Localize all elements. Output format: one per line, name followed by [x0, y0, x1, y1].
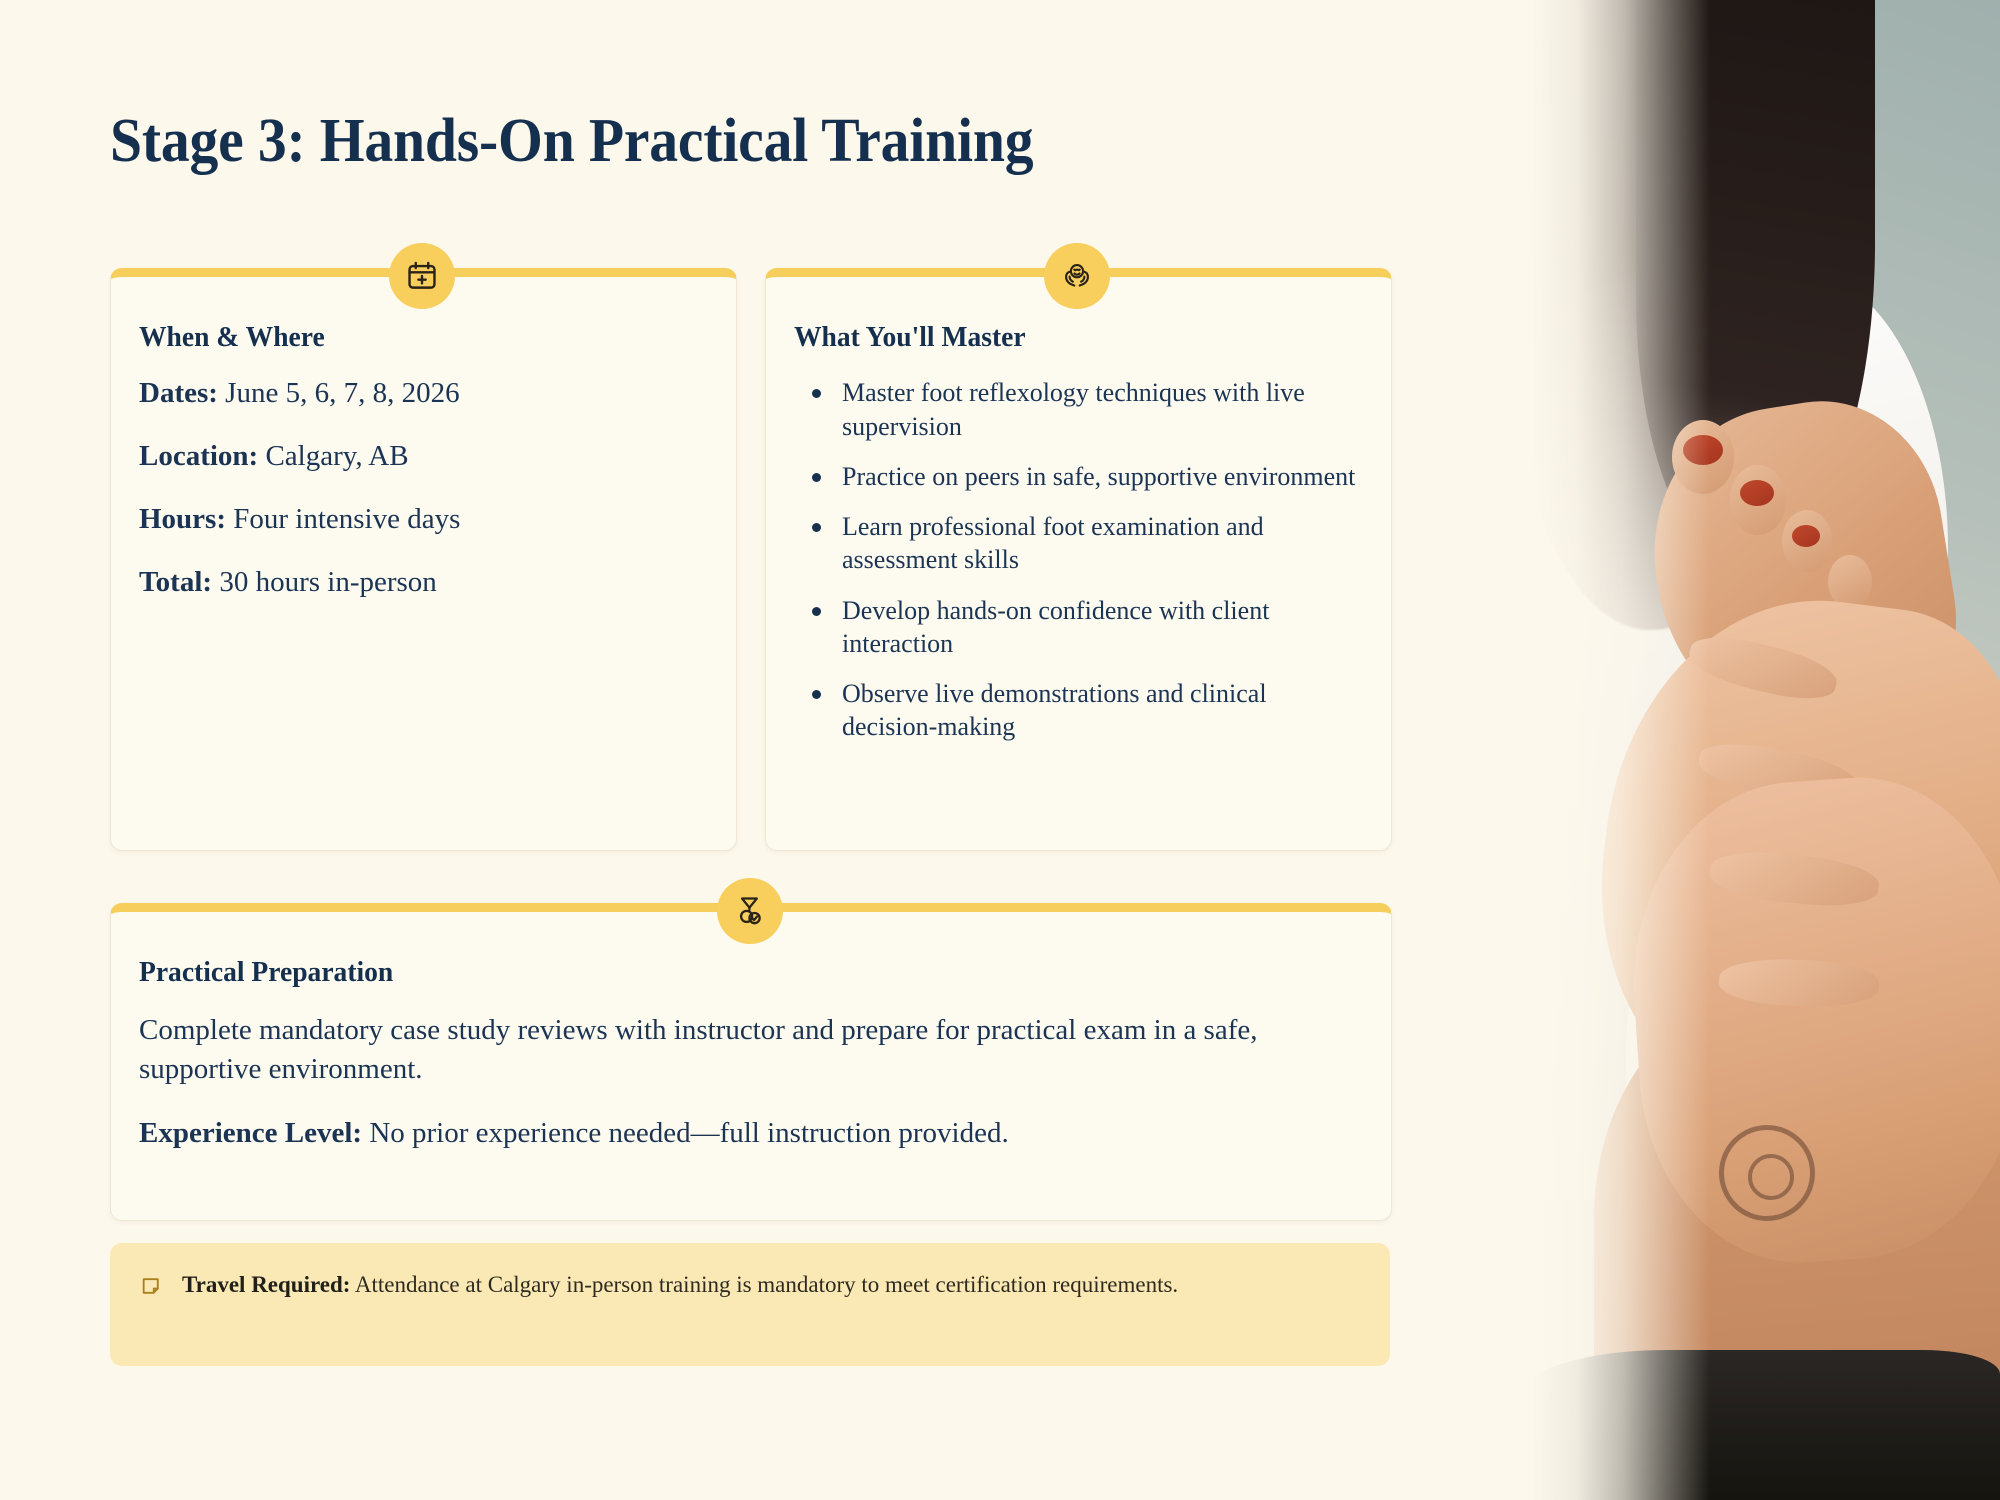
row-hours: Hours: Four intensive days — [139, 502, 708, 537]
preparation-paragraph: Complete mandatory case study reviews wi… — [139, 1011, 1363, 1089]
medal-check-icon — [717, 878, 783, 944]
notice-body: Attendance at Calgary in-person training… — [350, 1272, 1178, 1297]
card-practical-preparation-heading: Practical Preparation — [139, 956, 1302, 989]
row-total: Total: 30 hours in-person — [139, 565, 708, 600]
card-what-you-master-body: What You'll Master Master foot reflexolo… — [766, 277, 1391, 770]
row-total-label: Total: — [139, 566, 212, 598]
card-practical-preparation: Practical Preparation Complete mandatory… — [110, 903, 1392, 1221]
sticky-note-icon — [140, 1275, 162, 1302]
card-practical-preparation-body: Practical Preparation Complete mandatory… — [111, 912, 1391, 1179]
row-location: Location: Calgary, AB — [139, 439, 708, 474]
calendar-plus-icon — [389, 243, 455, 309]
card-what-you-master: What You'll Master Master foot reflexolo… — [765, 268, 1392, 851]
card-what-you-master-heading: What You'll Master — [794, 321, 1335, 354]
travel-required-notice: Travel Required: Attendance at Calgary i… — [110, 1243, 1390, 1366]
row-total-value: 30 hours in-person — [212, 566, 437, 598]
card-when-where: When & Where Dates: June 5, 6, 7, 8, 202… — [110, 268, 737, 851]
notice-text: Travel Required: Attendance at Calgary i… — [182, 1269, 1178, 1302]
photo-left-fade — [1480, 0, 1710, 1500]
list-item: Develop hands-on confidence with client … — [798, 594, 1363, 661]
row-dates-value: June 5, 6, 7, 8, 2026 — [218, 377, 460, 409]
page-title: Stage 3: Hands-On Practical Training — [110, 110, 1033, 172]
list-item: Learn professional foot examination and … — [798, 510, 1363, 577]
row-dates: Dates: June 5, 6, 7, 8, 2026 — [139, 376, 708, 411]
list-item: Practice on peers in safe, supportive en… — [798, 460, 1363, 493]
row-hours-value: Four intensive days — [226, 503, 460, 535]
experience-level-row: Experience Level: No prior experience ne… — [139, 1114, 1363, 1153]
reflexology-photo — [1480, 0, 2000, 1500]
master-bullet-list: Master foot reflexology techniques with … — [794, 376, 1363, 743]
row-location-label: Location: — [139, 440, 258, 472]
row-location-value: Calgary, AB — [258, 440, 408, 472]
content-area: Stage 3: Hands-On Practical Training Whe… — [0, 0, 1480, 1500]
list-item: Master foot reflexology techniques with … — [798, 376, 1363, 443]
photo-tattoo — [1719, 1125, 1815, 1221]
row-dates-label: Dates: — [139, 377, 218, 409]
notice-label: Travel Required: — [182, 1272, 350, 1297]
slide-root: Stage 3: Hands-On Practical Training Whe… — [0, 0, 2000, 1500]
photo-toenail — [1792, 525, 1820, 547]
experience-level-value: No prior experience needed—full instruct… — [362, 1117, 1009, 1149]
hands-holding-face-icon — [1044, 243, 1110, 309]
row-hours-label: Hours: — [139, 503, 226, 535]
photo-toenail — [1740, 480, 1774, 506]
list-item: Observe live demonstrations and clinical… — [798, 677, 1363, 744]
card-when-where-heading: When & Where — [139, 321, 680, 354]
experience-level-label: Experience Level: — [139, 1117, 362, 1149]
card-when-where-body: When & Where Dates: June 5, 6, 7, 8, 202… — [111, 277, 736, 654]
notice-row: Travel Required: Attendance at Calgary i… — [140, 1269, 1360, 1302]
